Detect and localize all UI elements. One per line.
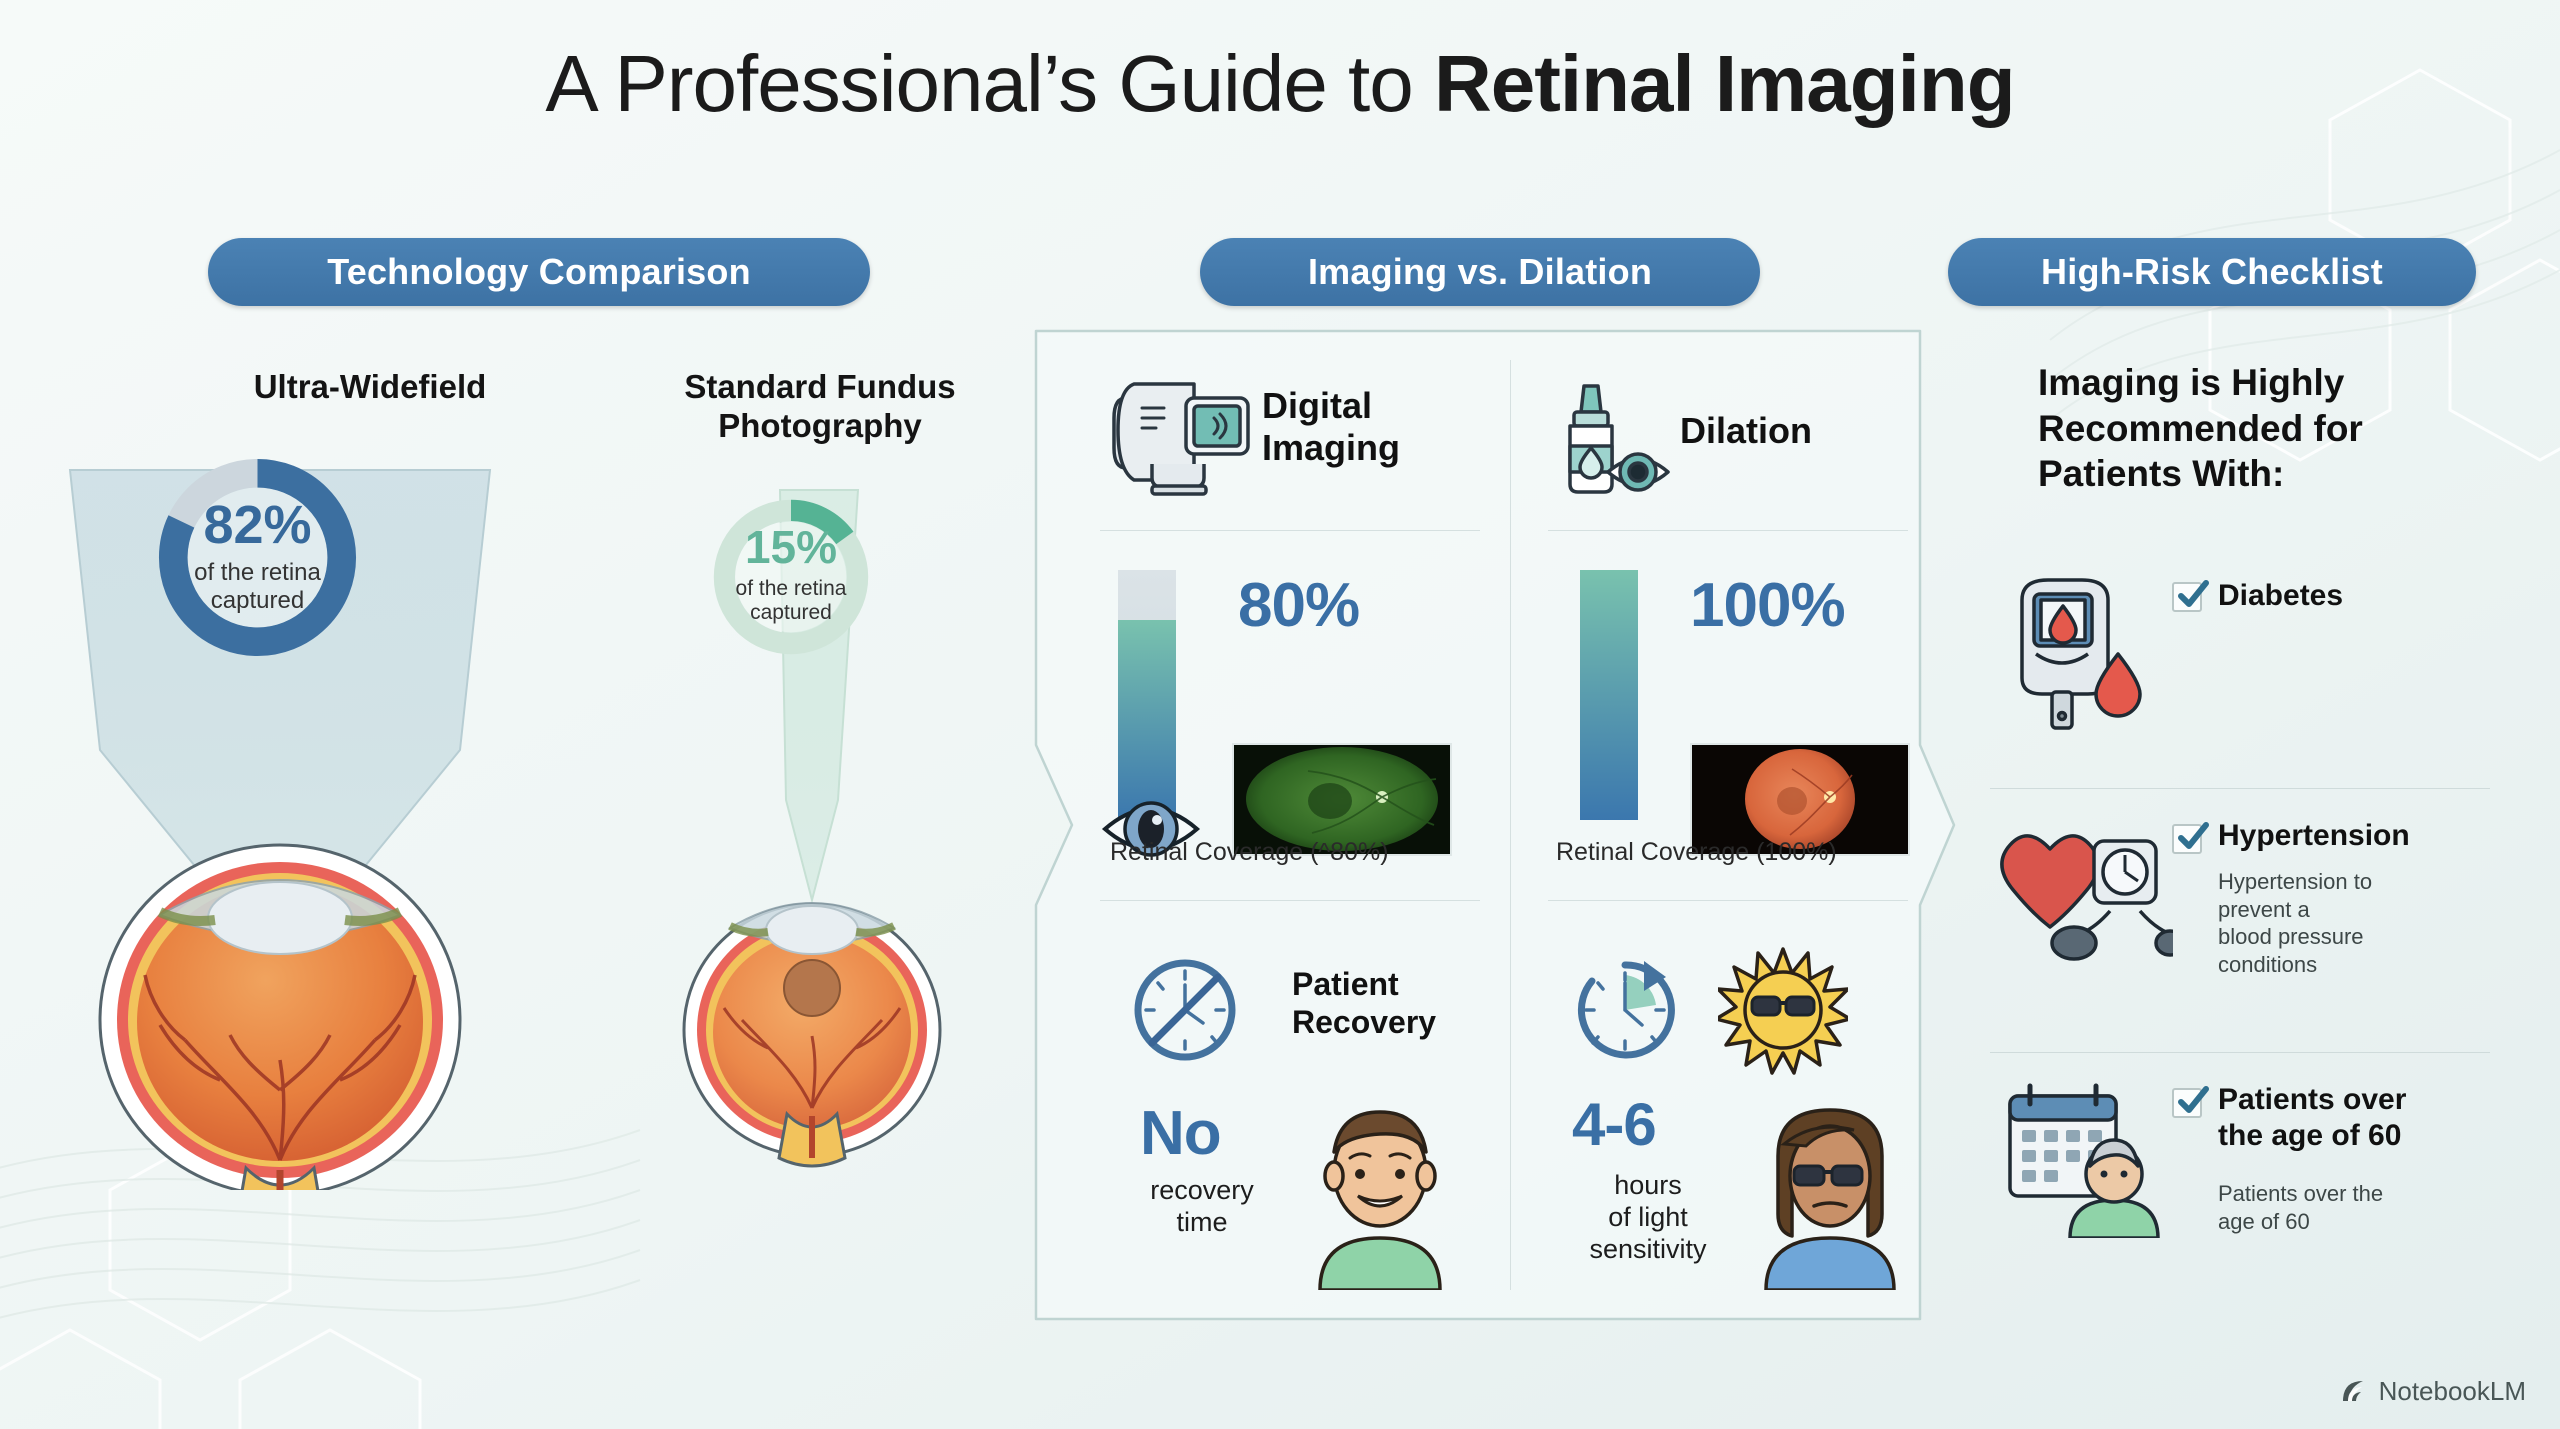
desc-line-2: prevent a <box>2218 896 2498 924</box>
coverage-bar-dilation <box>1580 570 1642 825</box>
coverage-caption-digital: Retinal Coverage (^80%) <box>1110 838 1389 867</box>
heading-text: Dilation <box>1680 410 1812 451</box>
smiling-man-icon <box>1290 1090 1470 1290</box>
checklist-item-label-hypertension: Hypertension <box>2218 818 2410 854</box>
text-line-1: recovery <box>1112 1175 1292 1207</box>
column-heading-ultra-widefield: Ultra-Widefield <box>140 368 600 407</box>
desc-line-1: Patients over the <box>2218 1180 2508 1208</box>
intro-line-2: Recommended for <box>2038 406 2458 452</box>
desc-line-3: blood pressure <box>2218 923 2498 951</box>
recovery-stat-digital: No <box>1140 1098 1221 1169</box>
donut-chart-standard-fundus: 15% of the retina captured <box>706 492 876 667</box>
label-line-1: Patients over <box>2218 1082 2508 1118</box>
heading-line-1: Patient <box>1292 965 1436 1003</box>
panel-divider-mid-left <box>1100 900 1480 901</box>
desc-line-4: conditions <box>2218 951 2498 979</box>
digital-imaging-heading: Digital Imaging <box>1262 385 1482 469</box>
text-line-1: hours <box>1548 1170 1748 1202</box>
checklist-item-desc-hypertension: Hypertension to prevent a blood pressure… <box>2218 868 2498 978</box>
checklist-item-label-diabetes: Diabetes <box>2218 578 2343 614</box>
heart-blood-pressure-icon <box>1998 815 2173 980</box>
checklist-intro: Imaging is Highly Recommended for Patien… <box>2038 360 2458 497</box>
heading-text: Ultra-Widefield <box>254 368 487 405</box>
recovery-stat-text-dilation: hours of light sensitivity <box>1548 1170 1748 1266</box>
dilation-heading: Dilation <box>1680 410 1900 452</box>
desc-line-1: Hypertension to <box>2218 868 2498 896</box>
panel-divider-mid-right <box>1548 900 1908 901</box>
text-line-3: sensitivity <box>1548 1234 1748 1266</box>
heading-line-1: Standard Fundus <box>600 368 1040 407</box>
section-label: Technology Comparison <box>327 251 751 293</box>
check-icon <box>2176 1085 2210 1119</box>
checklist-divider-2 <box>1990 1052 2490 1053</box>
eye-drop-bottle-icon <box>1558 378 1688 498</box>
checklist-item-label-patients-over-60: Patients over the age of 60 <box>2218 1082 2508 1154</box>
woman-sunglasses-icon <box>1740 1090 1920 1290</box>
intro-line-1: Imaging is Highly <box>2038 360 2458 406</box>
heading-line-1: Digital <box>1262 385 1482 427</box>
checkbox-patients-over-60[interactable] <box>2172 1088 2202 1118</box>
fundus-camera-icon <box>1108 368 1258 498</box>
patient-recovery-heading: Patient Recovery <box>1292 965 1436 1042</box>
panel-vertical-divider <box>1510 360 1511 1290</box>
recovery-stat-text-digital: recovery time <box>1112 1175 1292 1239</box>
section-label: Imaging vs. Dilation <box>1308 251 1652 293</box>
watermark-label: NotebookLM <box>2379 1376 2526 1407</box>
section-header-high-risk-checklist: High-Risk Checklist <box>1948 238 2476 306</box>
sun-sunglasses-icon <box>1718 945 1848 1075</box>
intro-line-3: Patients With: <box>2038 451 2458 497</box>
coverage-percent-digital: 80% <box>1238 570 1359 641</box>
column-heading-standard-fundus: Standard Fundus Photography <box>600 368 1040 446</box>
title-prefix: A Professional’s Guide to <box>545 39 1434 128</box>
glucose-meter-icon <box>2006 572 2156 737</box>
title-emphasis: Retinal Imaging <box>1434 39 2015 128</box>
no-clock-icon <box>1130 955 1240 1065</box>
panel-divider-top-right <box>1548 530 1908 531</box>
check-icon <box>2176 821 2210 855</box>
coverage-percent-dilation: 100% <box>1690 570 1845 641</box>
text-line-2: of light <box>1548 1202 1748 1234</box>
check-icon <box>2176 579 2210 613</box>
section-header-imaging-vs-dilation: Imaging vs. Dilation <box>1200 238 1760 306</box>
section-label: High-Risk Checklist <box>2041 251 2383 293</box>
clock-arrow-icon <box>1570 955 1680 1065</box>
notebooklm-icon <box>2339 1377 2369 1407</box>
checklist-divider-1 <box>1990 788 2490 789</box>
label-line-2: the age of 60 <box>2218 1118 2508 1154</box>
donut-chart-ultra-widefield: 82% of the retina captured <box>150 450 365 670</box>
coverage-caption-dilation: Retinal Coverage (100%) <box>1556 838 1837 867</box>
text-line-2: time <box>1112 1207 1292 1239</box>
heading-line-2: Recovery <box>1292 1003 1436 1041</box>
recovery-stat-dilation: 4-6 <box>1572 1090 1656 1159</box>
calendar-senior-icon <box>2000 1078 2165 1238</box>
section-header-technology-comparison: Technology Comparison <box>208 238 870 306</box>
page-title: A Professional’s Guide to Retinal Imagin… <box>0 42 2560 126</box>
checkbox-diabetes[interactable] <box>2172 582 2202 612</box>
checklist-item-desc-patients-over-60: Patients over the age of 60 <box>2218 1180 2508 1235</box>
heading-line-2: Photography <box>600 407 1040 446</box>
desc-line-2: age of 60 <box>2218 1208 2508 1236</box>
checkbox-hypertension[interactable] <box>2172 824 2202 854</box>
notebooklm-watermark: NotebookLM <box>2339 1376 2526 1407</box>
heading-line-2: Imaging <box>1262 427 1482 469</box>
panel-divider-top-left <box>1100 530 1480 531</box>
